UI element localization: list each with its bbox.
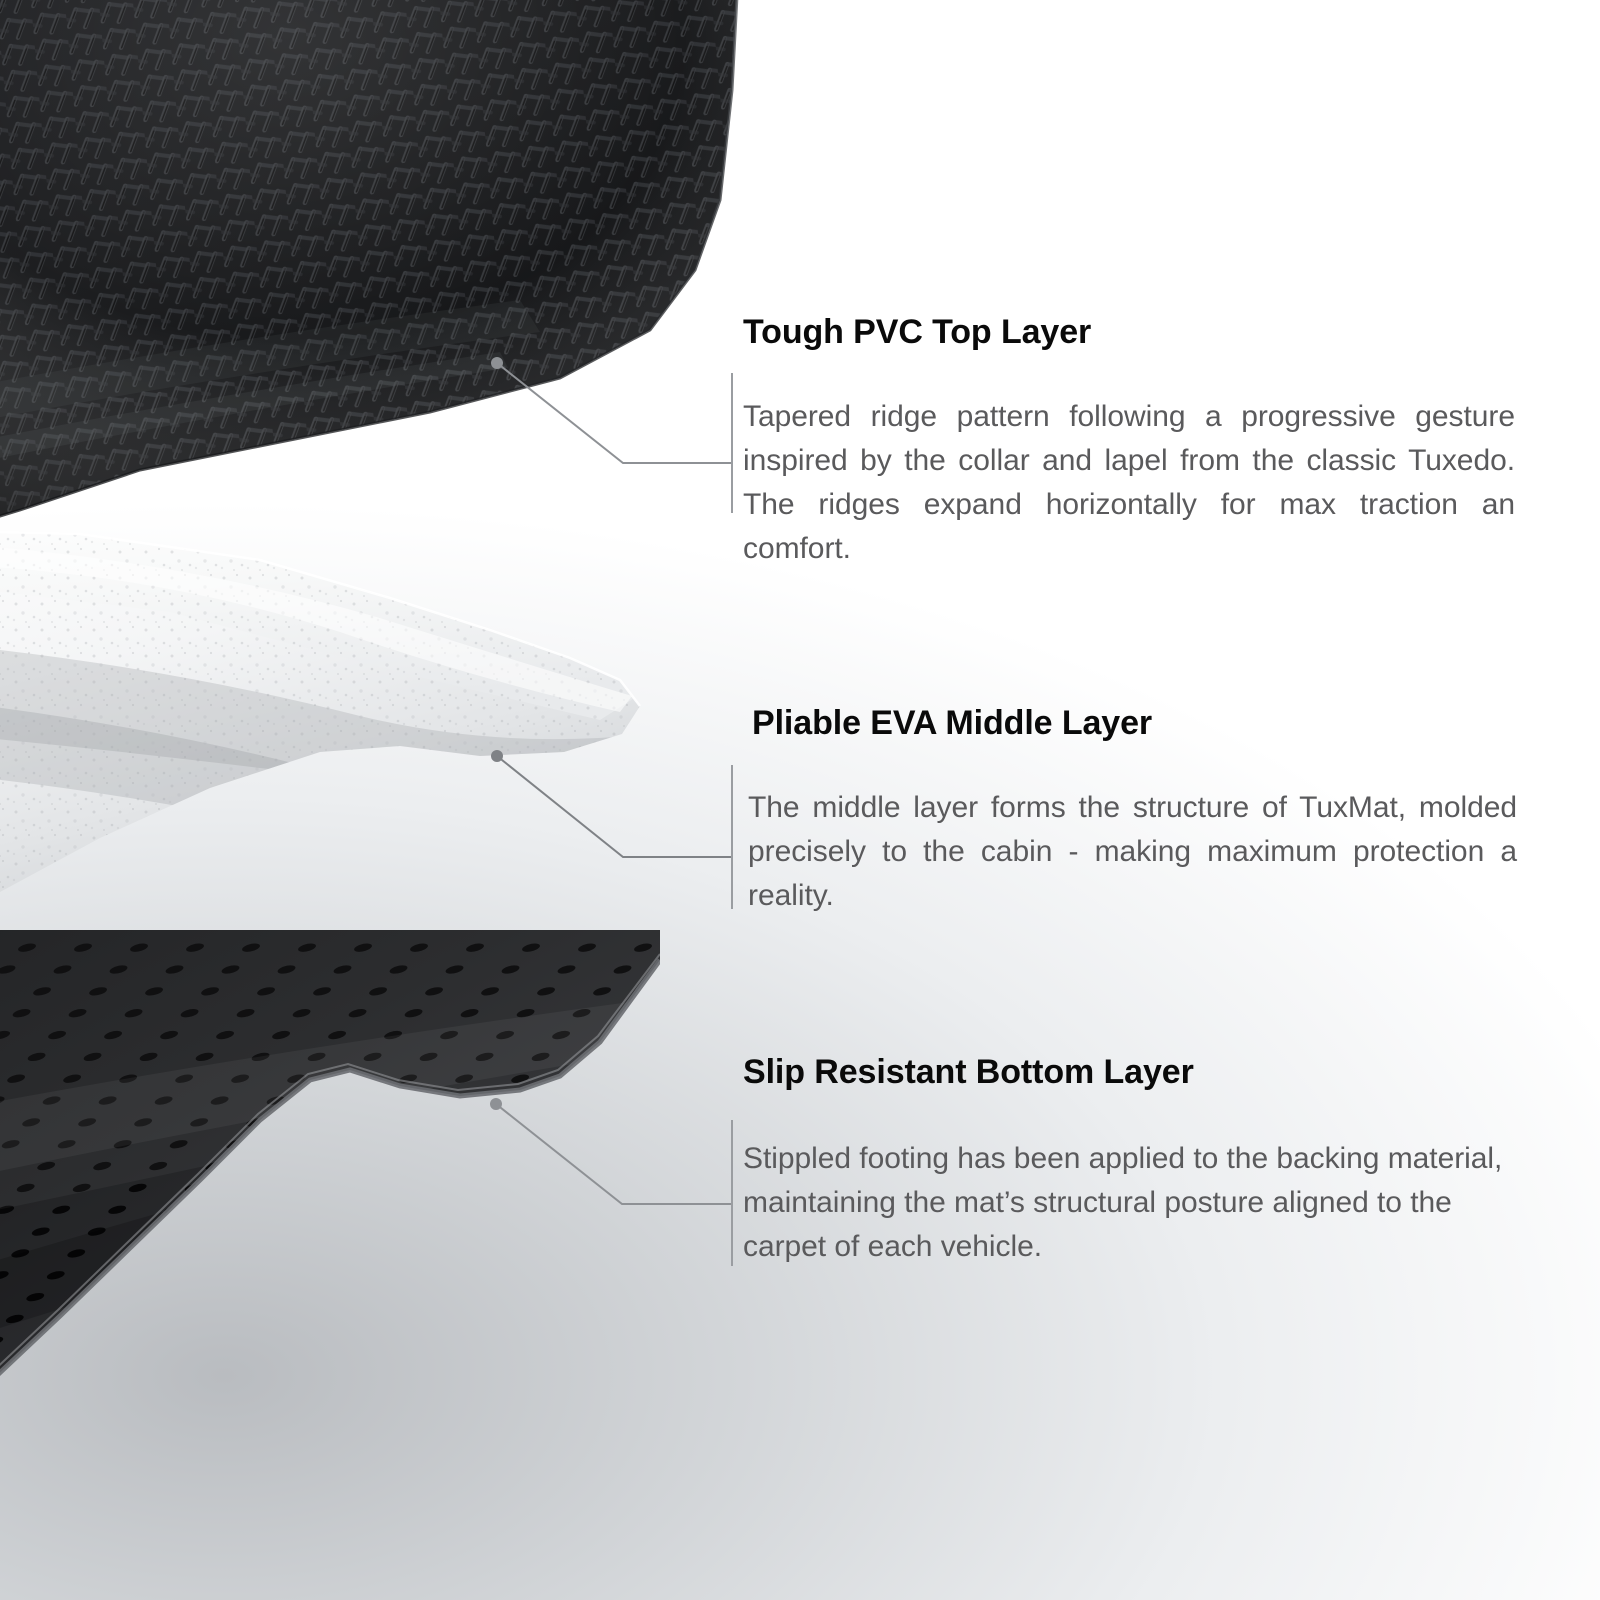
layer-diagram-canvas: Tough PVC Top Layer Tapered ridge patter… [0, 0, 1600, 1600]
pvc-top-layer-callout-rule [731, 373, 733, 513]
pvc-top-layer-body: Tapered ridge pattern following a progre… [743, 395, 1515, 571]
slip-resistant-bottom-layer-callout: Slip Resistant Bottom Layer Stippled foo… [743, 1053, 1520, 1269]
eva-middle-layer-heading: Pliable EVA Middle Layer [752, 704, 1517, 742]
pvc-top-layer-illustration [0, 0, 760, 530]
pvc-top-layer-callout: Tough PVC Top Layer Tapered ridge patter… [743, 313, 1515, 571]
eva-middle-layer-body: The middle layer forms the structure of … [748, 786, 1517, 918]
eva-middle-layer-callout-rule [731, 765, 733, 909]
slip-resistant-bottom-layer-heading: Slip Resistant Bottom Layer [743, 1053, 1520, 1091]
slip-resistant-bottom-layer-body: Stippled footing has been applied to the… [743, 1137, 1520, 1269]
eva-middle-layer-illustration [0, 520, 720, 950]
eva-middle-layer-callout: Pliable EVA Middle Layer The middle laye… [752, 704, 1517, 918]
pvc-top-layer-heading: Tough PVC Top Layer [743, 313, 1515, 351]
slip-resistant-bottom-layer-callout-rule [731, 1120, 733, 1266]
slip-resistant-bottom-layer-illustration [0, 930, 660, 1450]
